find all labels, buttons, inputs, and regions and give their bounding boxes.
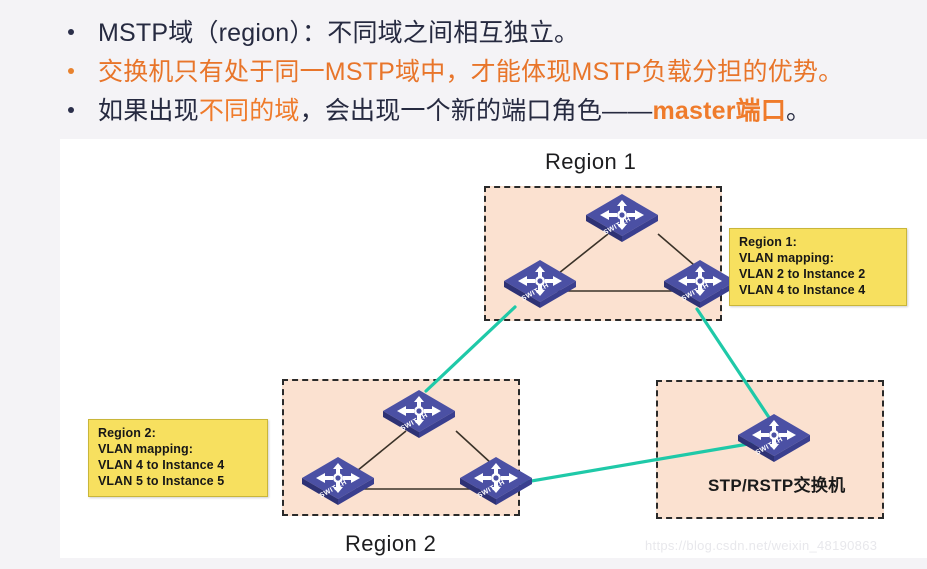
switch-icon: SWITCH	[383, 390, 455, 438]
bullet-segment-plain-3: 。	[786, 97, 811, 125]
switch-stp-rstp[interactable]: SWITCH	[735, 411, 813, 465]
switch-r2-right[interactable]: SWITCH	[457, 454, 535, 508]
region-1-label: Region 1	[545, 149, 636, 175]
switch-r1-top[interactable]: SWITCH	[583, 191, 661, 245]
bullet-item-3: 如果出现不同的域，会出现一个新的端口角色——master端口。	[68, 96, 811, 126]
note-line: VLAN mapping:	[739, 250, 897, 266]
switch-icon: SWITCH	[664, 260, 736, 308]
note-line: Region 2:	[98, 425, 258, 441]
switch-icon: SWITCH	[586, 194, 658, 242]
bullet-segment-highlight-2: master端口	[652, 97, 786, 125]
stp-rstp-label: STP/RSTP交换机	[708, 471, 845, 496]
bullet-segment-plain-1: 如果出现	[98, 97, 199, 125]
bullet-item-2: 交换机只有处于同一MSTP域中，才能体现MSTP负载分担的优势。	[68, 57, 843, 87]
diagram-canvas: SWITCH SWITCH	[60, 139, 927, 558]
note-line: VLAN 4 to Instance 4	[739, 282, 897, 298]
note-line: VLAN 4 to Instance 4	[98, 457, 258, 473]
bullet-segment-highlight-1: 不同的域	[199, 97, 300, 125]
note-line: VLAN 2 to Instance 2	[739, 266, 897, 282]
switch-r1-left[interactable]: SWITCH	[501, 257, 579, 311]
bullet-text-2: 交换机只有处于同一MSTP域中，才能体现MSTP负载分担的优势。	[98, 57, 843, 87]
region-2-note-box: Region 2: VLAN mapping: VLAN 4 to Instan…	[88, 419, 268, 497]
switch-icon: SWITCH	[460, 457, 532, 505]
watermark: https://blog.csdn.net/weixin_48190863	[645, 538, 877, 553]
bullet-dot-icon	[68, 107, 74, 113]
note-line: VLAN mapping:	[98, 441, 258, 457]
switch-r2-left[interactable]: SWITCH	[299, 454, 377, 508]
region-1-note-box: Region 1: VLAN mapping: VLAN 2 to Instan…	[729, 228, 907, 306]
note-line: Region 1:	[739, 234, 897, 250]
switch-icon: SWITCH	[302, 457, 374, 505]
note-line: VLAN 5 to Instance 5	[98, 473, 258, 489]
bullet-text-1: MSTP域（region）：不同域之间相互独立。	[98, 18, 579, 48]
switch-icon: SWITCH	[738, 414, 810, 462]
bullet-list: MSTP域（region）：不同域之间相互独立。 交换机只有处于同一MSTP域中…	[0, 0, 927, 138]
bullet-text-3: 如果出现不同的域，会出现一个新的端口角色——master端口。	[98, 96, 811, 126]
switch-r1-right[interactable]: SWITCH	[661, 257, 739, 311]
switch-r2-top[interactable]: SWITCH	[380, 387, 458, 441]
switch-icon: SWITCH	[504, 260, 576, 308]
region-2-label: Region 2	[345, 531, 436, 557]
bullet-segment-plain-2: ，会出现一个新的端口角色——	[300, 97, 653, 125]
bullet-dot-icon	[68, 68, 74, 74]
bullet-dot-icon	[68, 29, 74, 35]
bullet-item-1: MSTP域（region）：不同域之间相互独立。	[68, 18, 579, 48]
